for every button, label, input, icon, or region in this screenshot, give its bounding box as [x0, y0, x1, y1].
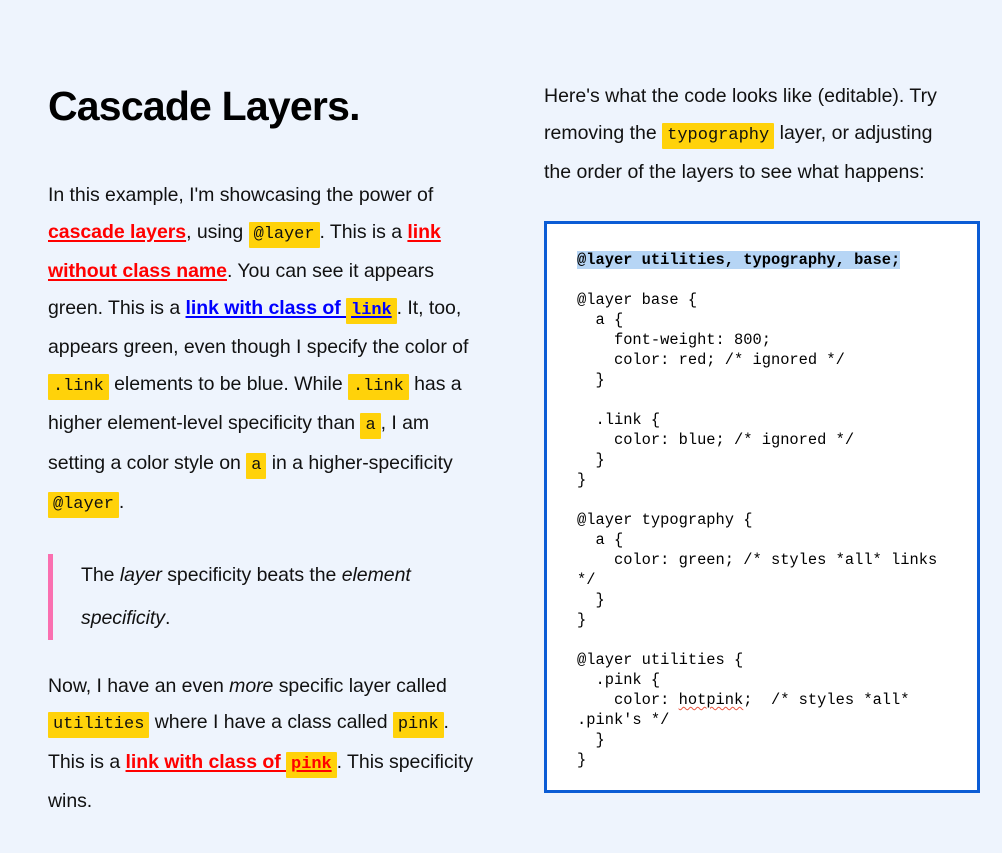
- selected-layer-order-line[interactable]: @layer utilities, typography, base;: [577, 251, 900, 269]
- css-code-content[interactable]: @layer utilities, typography, base; @lay…: [577, 250, 959, 770]
- link-label: link with class of: [126, 751, 287, 773]
- code-dot-link-1: .link: [48, 374, 109, 400]
- emphasis-more: more: [229, 675, 273, 697]
- link-label: link with class of: [186, 297, 347, 319]
- link-with-class-of-pink[interactable]: link with class of pink: [126, 751, 337, 773]
- code-pink-link: pink: [286, 752, 337, 778]
- code-editor-panel[interactable]: @layer utilities, typography, base; @lay…: [544, 221, 980, 793]
- link-cascade-layers[interactable]: cascade layers: [48, 221, 186, 243]
- text-fragment: . This is a: [320, 221, 408, 243]
- code-typography: typography: [662, 123, 774, 149]
- code-a-1: a: [360, 413, 380, 439]
- page-root: Cascade Layers. In this example, I'm sho…: [0, 0, 1002, 853]
- editor-column: Here's what the code looks like (editabl…: [544, 78, 954, 793]
- text-fragment: in a higher-specificity: [266, 452, 452, 474]
- intro-paragraph: In this example, I'm showcasing the powe…: [48, 177, 480, 524]
- text-fragment: specificity beats the: [162, 564, 342, 586]
- code-dot-link-2: .link: [348, 374, 409, 400]
- utilities-paragraph: Now, I have an even more specific layer …: [48, 668, 480, 820]
- code-utilities: utilities: [48, 712, 149, 738]
- emphasis-layer: layer: [120, 564, 162, 586]
- code-pink: pink: [393, 712, 444, 738]
- text-fragment: .: [119, 491, 124, 513]
- text-fragment: elements to be blue. While: [109, 373, 348, 395]
- editor-intro-text: Here's what the code looks like (editabl…: [544, 78, 954, 191]
- text-fragment: The: [81, 564, 120, 586]
- text-fragment: specific layer called: [273, 675, 446, 697]
- callout-blockquote: The layer specificity beats the element …: [48, 554, 480, 640]
- text-fragment: In this example, I'm showcasing the powe…: [48, 184, 433, 206]
- code-a-2: a: [246, 453, 266, 479]
- code-atlayer: @layer: [249, 222, 320, 248]
- page-title: Cascade Layers.: [48, 84, 480, 129]
- article-column: Cascade Layers. In this example, I'm sho…: [48, 78, 480, 820]
- text-fragment: , using: [186, 221, 248, 243]
- text-fragment: .: [165, 607, 170, 629]
- code-link: link: [346, 298, 397, 324]
- code-atlayer-2: @layer: [48, 492, 119, 518]
- code-body: @layer base { a { font-weight: 800; colo…: [577, 291, 946, 709]
- link-with-class-of-link[interactable]: link with class of link: [186, 297, 397, 319]
- text-fragment: Now, I have an even: [48, 675, 229, 697]
- misspelled-word-hotpink[interactable]: hotpink: [679, 691, 744, 709]
- blockquote-text: The layer specificity beats the element …: [81, 554, 480, 640]
- text-fragment: where I have a class called: [149, 711, 393, 733]
